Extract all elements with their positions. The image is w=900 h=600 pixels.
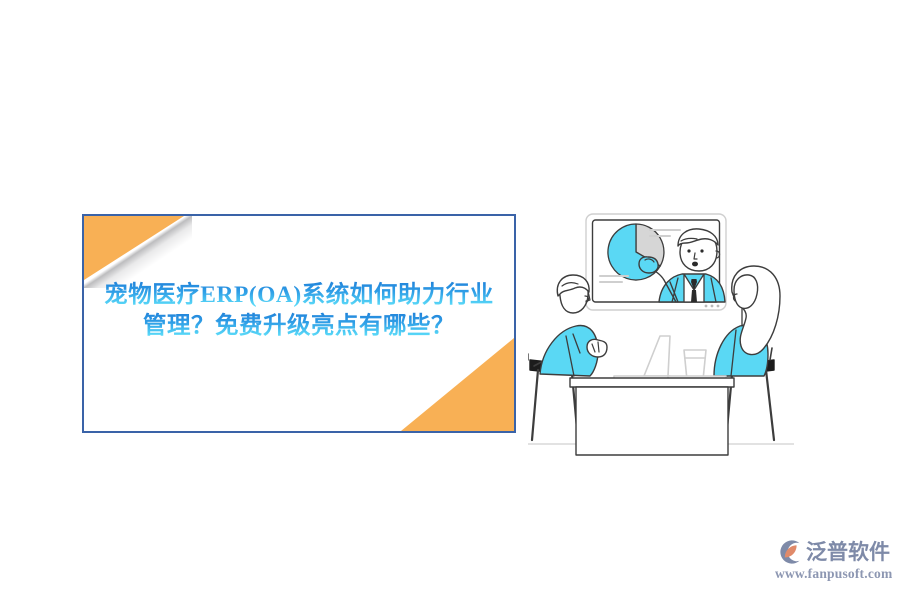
brand-name: 泛普软件 (806, 538, 890, 566)
page-title: 宠物医疗ERP(OA)系统如何助力行业 管理？免费升级亮点有哪些？ (84, 280, 514, 341)
fanpu-logo-icon (775, 538, 803, 566)
laptop (614, 336, 670, 382)
logo-row: 泛普软件 (775, 537, 895, 567)
title-card: 宠物医疗ERP(OA)系统如何助力行业 管理？免费升级亮点有哪些？ (82, 214, 516, 433)
page-title-line-1: 宠物医疗ERP(OA)系统如何助力行业 (84, 280, 514, 311)
watermark-logo: 泛普软件 www.fanpusoft.com (775, 537, 895, 589)
corner-triangle-top-left (84, 216, 184, 280)
corner-triangle-bottom-right (401, 338, 514, 431)
brand-url: www.fanpusoft.com (775, 566, 895, 582)
page-title-line-2: 管理？免费升级亮点有哪些？ (84, 311, 514, 342)
left-person-hand (587, 339, 607, 357)
meeting-table (570, 378, 734, 455)
video-conference-illustration (528, 208, 794, 472)
screen-status-dots (705, 305, 720, 308)
